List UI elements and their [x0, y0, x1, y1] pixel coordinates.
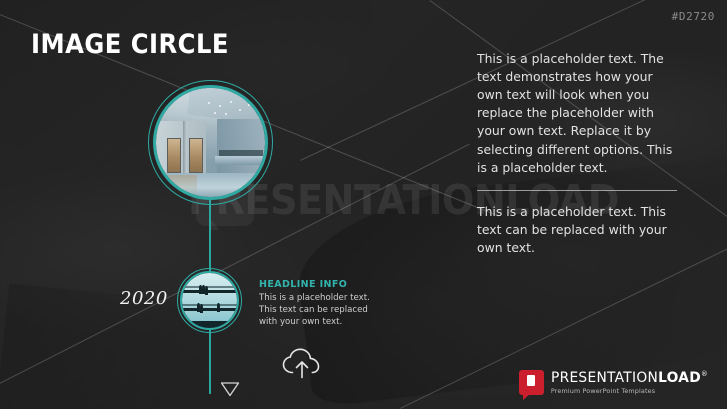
paragraph-sub: This is a placeholder text. This text ca…: [477, 203, 677, 257]
logo-name-bold: LOAD: [658, 370, 701, 386]
large-image-circle[interactable]: [148, 80, 273, 205]
cloud-upload-icon[interactable]: [281, 347, 323, 385]
logo-text-group: PRESENTATIONLOAD® Premium PowerPoint Tem…: [551, 371, 716, 394]
slide-canvas: PRESENTATIONLOAD IMAGE CIRCLE #D2720: [0, 0, 727, 409]
logo-name-light: PRESENTATION: [551, 370, 658, 386]
small-image-circle[interactable]: [177, 268, 242, 333]
info-block: HEADLINE INFO This is a placeholder text…: [259, 279, 384, 329]
large-image-circle-ring: [153, 85, 268, 200]
small-image-circle-ring: [180, 271, 239, 330]
logo-registered-mark: ®: [701, 370, 708, 378]
page-title: IMAGE CIRCLE: [31, 29, 229, 60]
logo-tagline: Premium PowerPoint Templates: [551, 388, 716, 394]
elevator-lobby-photo: [156, 88, 265, 197]
paragraph-main: This is a placeholder text. The text dem…: [477, 50, 677, 177]
logo-name: PRESENTATIONLOAD®: [551, 371, 708, 386]
info-body-text: This is a placeholder text. This text ca…: [259, 292, 384, 329]
walkway-photo: [182, 273, 237, 328]
info-headline: HEADLINE INFO: [259, 279, 384, 290]
logo-speech-bubble-icon: [519, 370, 544, 395]
presentationload-logo: PRESENTATIONLOAD® Premium PowerPoint Tem…: [519, 370, 716, 395]
text-column: This is a placeholder text. The text dem…: [477, 50, 677, 257]
product-id-label: #D2720: [672, 10, 715, 23]
triangle-down-marker-icon: [220, 381, 240, 402]
text-divider: [477, 190, 677, 191]
timeline-year-label: 2020: [120, 288, 168, 309]
